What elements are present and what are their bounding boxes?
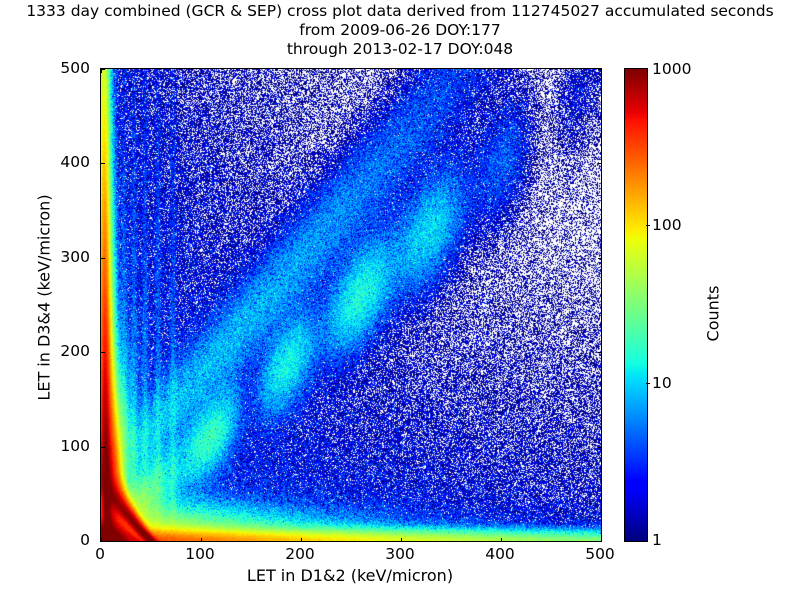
- x-tick-label: 500: [585, 545, 615, 563]
- x-tick-label: 300: [385, 545, 415, 563]
- y-tick-label: 0: [30, 531, 90, 549]
- y-tick-mark: [101, 69, 105, 70]
- x-axis-label: LET in D1&2 (keV/micron): [100, 566, 600, 585]
- y-tick-mark-right: [598, 258, 602, 259]
- y-tick-label: 400: [30, 153, 90, 171]
- figure-title-line-2: from 2009-06-26 DOY:177: [0, 21, 800, 40]
- colorbar-tick-label: 1: [652, 531, 662, 549]
- y-tick-mark: [101, 258, 105, 259]
- x-tick-mark: [201, 538, 202, 542]
- y-tick-label: 300: [30, 248, 90, 266]
- y-tick-mark: [101, 447, 105, 448]
- colorbar-gradient: [624, 68, 648, 542]
- density-heatmap-canvas: [101, 69, 601, 541]
- x-tick-mark: [401, 538, 402, 542]
- colorbar-tick-label: 10: [652, 374, 672, 392]
- y-tick-mark: [101, 163, 105, 164]
- colorbar-tick-mark: [646, 225, 650, 226]
- y-tick-mark: [101, 541, 105, 542]
- y-tick-mark-right: [598, 541, 602, 542]
- x-tick-label: 100: [185, 545, 215, 563]
- colorbar-tick-mark: [646, 383, 650, 384]
- figure-title-line-1: 1333 day combined (GCR & SEP) cross plot…: [26, 2, 773, 21]
- y-tick-label: 200: [30, 342, 90, 360]
- y-tick-mark-right: [598, 352, 602, 353]
- x-tick-mark: [501, 538, 502, 542]
- y-tick-mark-right: [598, 163, 602, 164]
- y-tick-label: 500: [30, 59, 90, 77]
- figure-title-line-3: through 2013-02-17 DOY:048: [0, 40, 800, 59]
- y-tick-mark-right: [598, 69, 602, 70]
- figure-root: 1333 day combined (GCR & SEP) cross plot…: [0, 0, 800, 600]
- x-tick-mark-top: [201, 69, 202, 73]
- colorbar: 1000100101: [624, 68, 646, 540]
- x-tick-label: 400: [485, 545, 515, 563]
- y-tick-label: 100: [30, 437, 90, 455]
- y-tick-mark-right: [598, 447, 602, 448]
- plot-area: [100, 68, 602, 542]
- x-tick-mark-top: [301, 69, 302, 73]
- x-tick-mark-top: [401, 69, 402, 73]
- x-tick-mark-top: [501, 69, 502, 73]
- y-tick-mark: [101, 352, 105, 353]
- colorbar-tick-label: 100: [652, 216, 682, 234]
- colorbar-tick-label: 1000: [652, 60, 691, 78]
- colorbar-label: Counts: [704, 234, 723, 394]
- x-tick-mark: [301, 538, 302, 542]
- x-tick-label: 200: [285, 545, 315, 563]
- x-tick-label: 0: [95, 545, 105, 563]
- y-axis-label: LET in D3&4 (keV/micron): [35, 158, 54, 438]
